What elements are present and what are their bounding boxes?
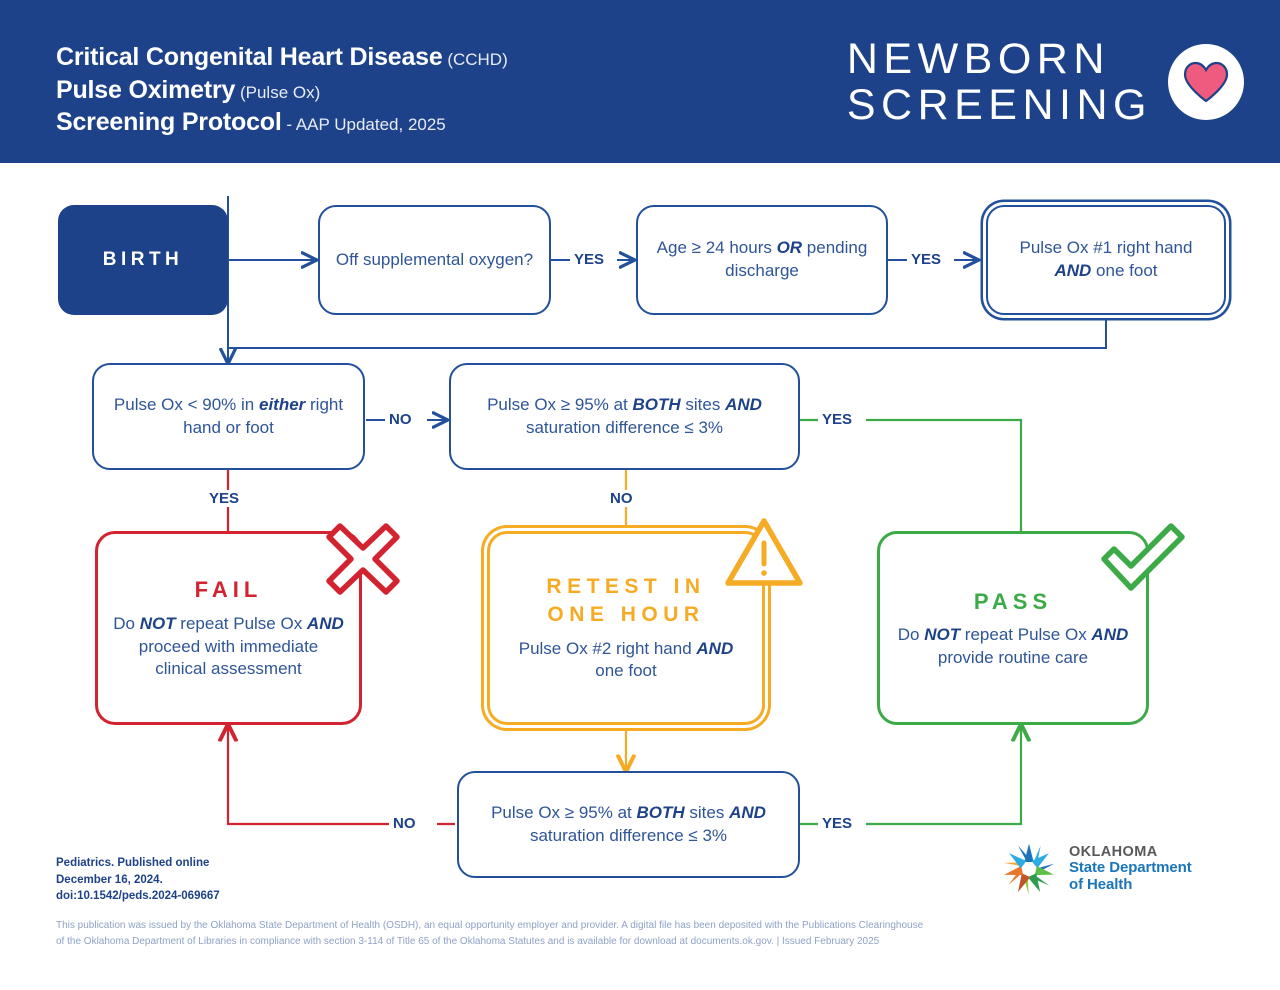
edge-label-yes-2: YES bbox=[908, 251, 944, 268]
node-pulse-ox-below-90[interactable]: Pulse Ox < 90% in either right hand or f… bbox=[92, 363, 365, 470]
title-line-2-light: (Pulse Ox) bbox=[235, 83, 320, 102]
node-pulse-ox-1-text: Pulse Ox #1 right hand AND one foot bbox=[1002, 237, 1210, 283]
pass-label: PASS bbox=[974, 587, 1052, 617]
node-check-2-text: Pulse Ox ≥ 95% at BOTH sites AND saturat… bbox=[473, 802, 784, 848]
title-line-3-strong: Screening Protocol bbox=[56, 108, 282, 136]
edge-label-yes-bottom: YES bbox=[819, 815, 855, 832]
brand-line-screening: SCREENING bbox=[847, 82, 1152, 128]
fail-label: FAIL bbox=[195, 575, 263, 605]
oklahoma-health-starburst-icon bbox=[1000, 840, 1058, 898]
node-below-90-text: Pulse Ox < 90% in either right hand or f… bbox=[108, 394, 349, 440]
edge-label-yes-green-branch: YES bbox=[819, 411, 855, 428]
title-line-3: Screening Protocol - AAP Updated, 2025 bbox=[56, 106, 508, 139]
citation-line-3: doi:10.1542/peds.2024-069667 bbox=[56, 888, 220, 905]
title-line-1-strong: Critical Congenital Heart Disease bbox=[56, 43, 443, 71]
node-pulse-ox-1[interactable]: Pulse Ox #1 right hand AND one foot bbox=[986, 205, 1226, 315]
newborn-screening-logo: NEWBORN SCREENING bbox=[847, 36, 1244, 128]
edge-label-yes-fail: YES bbox=[206, 490, 242, 507]
osdh-state-department-text: State Department bbox=[1069, 860, 1192, 877]
osdh-of-health-text: of Health bbox=[1069, 877, 1192, 894]
edge-label-yes-1: YES bbox=[571, 251, 607, 268]
node-fail[interactable]: FAIL Do NOT repeat Pulse Ox AND proceed … bbox=[95, 531, 362, 725]
disclaimer-text: This publication was issued by the Oklah… bbox=[56, 918, 1228, 949]
node-age-or-pending-discharge[interactable]: Age ≥ 24 hours OR pending discharge bbox=[636, 205, 888, 315]
pass-body: Do NOT repeat Pulse Ox AND provide routi… bbox=[894, 624, 1132, 669]
brand-wordmark: NEWBORN SCREENING bbox=[847, 36, 1152, 128]
node-check-1[interactable]: Pulse Ox ≥ 95% at BOTH sites AND saturat… bbox=[449, 363, 800, 470]
node-off-supplemental-oxygen[interactable]: Off supplemental oxygen? bbox=[318, 205, 551, 315]
node-oxygen-text: Off supplemental oxygen? bbox=[336, 249, 533, 272]
node-birth[interactable]: BIRTH bbox=[58, 205, 228, 315]
fail-body: Do NOT repeat Pulse Ox AND proceed with … bbox=[112, 613, 345, 681]
citation-line-2: December 16, 2024. bbox=[56, 872, 220, 889]
page-header: Critical Congenital Heart Disease (CCHD)… bbox=[0, 0, 1280, 163]
node-check-2[interactable]: Pulse Ox ≥ 95% at BOTH sites AND saturat… bbox=[457, 771, 800, 878]
citation-line-1: Pediatrics. Published online bbox=[56, 855, 220, 872]
title-line-2: Pulse Oximetry (Pulse Ox) bbox=[56, 74, 508, 107]
edge-label-no-retest: NO bbox=[607, 490, 636, 507]
retest-label-line-1: RETEST IN bbox=[546, 573, 705, 601]
disclaimer-line-1: This publication was issued by the Oklah… bbox=[56, 918, 1228, 934]
citation-block: Pediatrics. Published online December 16… bbox=[56, 855, 220, 905]
edge-label-no-bottom: NO bbox=[390, 815, 419, 832]
disclaimer-line-2: of the Oklahoma Department of Libraries … bbox=[56, 934, 1228, 950]
check-mark-icon bbox=[1098, 519, 1188, 591]
warning-triangle-icon bbox=[722, 515, 806, 593]
oklahoma-state-department-of-health-logo: OKLAHOMA State Department of Health bbox=[1000, 840, 1192, 898]
brand-line-newborn: NEWBORN bbox=[847, 36, 1152, 82]
retest-label-line-2: ONE HOUR bbox=[547, 601, 704, 629]
heart-badge bbox=[1168, 44, 1244, 120]
node-age-text: Age ≥ 24 hours OR pending discharge bbox=[652, 237, 872, 283]
node-check-1-text: Pulse Ox ≥ 95% at BOTH sites AND saturat… bbox=[465, 394, 784, 440]
heart-icon bbox=[1183, 61, 1229, 103]
osdh-oklahoma-text: OKLAHOMA bbox=[1069, 844, 1192, 860]
retest-body: Pulse Ox #2 right hand AND one foot bbox=[504, 638, 748, 683]
title-line-1: Critical Congenital Heart Disease (CCHD) bbox=[56, 41, 508, 74]
x-mark-icon bbox=[323, 520, 403, 598]
edge-label-no-1: NO bbox=[386, 411, 415, 428]
osdh-wordmark: OKLAHOMA State Department of Health bbox=[1069, 844, 1192, 894]
title-line-3-light: - AAP Updated, 2025 bbox=[282, 115, 446, 134]
title-line-2-strong: Pulse Oximetry bbox=[56, 76, 235, 104]
title-line-1-light: (CCHD) bbox=[443, 50, 508, 69]
header-title-block: Critical Congenital Heart Disease (CCHD)… bbox=[56, 41, 508, 139]
